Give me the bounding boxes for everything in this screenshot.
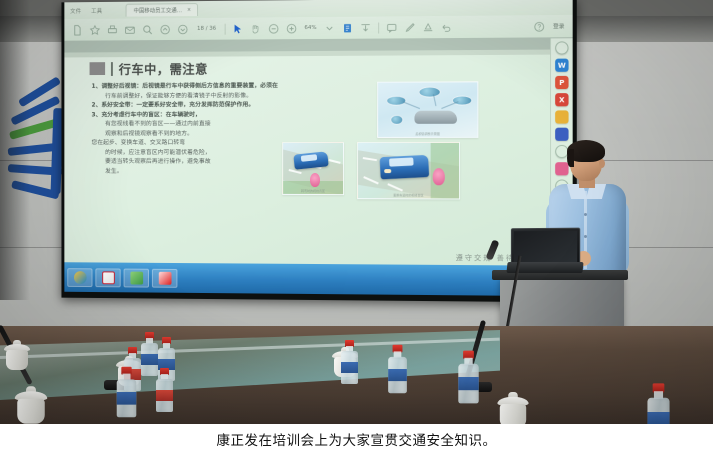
page-indicator[interactable]: 18 / 36 [197,26,216,32]
tea-cup [497,392,528,424]
comment-icon[interactable] [386,22,397,33]
blind-spot-right-illustration: 变换车道时的视线盲区 [357,142,460,200]
conference-room-photo: 文件 工具 中国移动员工交通… × [0,0,713,424]
projection-screen: 文件 工具 中国移动员工交通… × [61,0,576,302]
toolbar-divider [225,23,226,34]
stamp-icon[interactable] [555,162,568,175]
caption-text: 康正发在培训会上为大家宣贯交通安全知识。 [217,429,497,449]
tea-cup [15,386,48,424]
taskbar-app-mail[interactable] [95,268,120,287]
signature-icon[interactable] [422,22,433,33]
taskbar-app-wps[interactable] [124,268,149,287]
image-caption: 后视镜调整示意图 [378,132,477,136]
menu-item-tools[interactable]: 工具 [91,6,102,14]
fit-page-icon[interactable] [342,22,353,33]
laptop [511,228,580,267]
toolbar-divider [378,22,379,33]
water-bottle [388,345,407,393]
pdf-to-ppt-icon[interactable]: P [555,76,568,89]
next-page-icon[interactable] [177,24,188,35]
water-bottle [156,368,173,412]
pdf-to-image-icon[interactable] [555,110,568,123]
menu-item-file[interactable]: 文件 [70,7,81,15]
taskbar-app-pdf-reader[interactable] [152,268,177,287]
projected-desktop: 文件 工具 中国移动员工交通… × [64,0,572,296]
merge-pdf-icon[interactable] [555,128,568,141]
star-icon[interactable] [90,24,101,35]
title-square-decoration [90,62,106,75]
image-caption: 变换车道时的视线盲区 [358,193,459,197]
close-icon[interactable]: × [187,7,191,13]
presenter-hair-side [567,149,574,167]
login-button[interactable]: 登录 [553,22,564,30]
water-bottle [117,367,137,418]
document-tab[interactable]: 中国移动员工交通… × [126,3,198,17]
help-circle-icon[interactable] [534,21,545,32]
slide-text-line: 观察和后视镜观察看不到的地方。 [92,129,338,139]
new-document-icon[interactable] [72,24,83,35]
print-icon[interactable] [107,24,118,35]
zoom-level-label[interactable]: 64% [304,25,316,31]
pdf-to-excel-icon[interactable]: X [555,93,568,106]
title-rule-decoration [111,62,113,76]
tea-cup [4,340,30,370]
slide-title: 行车中，需注意 [119,59,208,78]
screenshot-root: 文件 工具 中国移动员工交通… × [0,0,713,453]
photo-caption: 康正发在培训会上为大家宣贯交通安全知识。 [0,424,713,453]
slide-text-line: 2、系好安全带：一定要系好安全带，充分发挥防范保护作用。 [92,101,338,111]
slide-title-row: 行车中，需注意 [90,59,208,78]
water-bottle [647,383,669,424]
water-bottle [341,340,358,384]
document-tab-title: 中国移动员工交通… [134,6,182,14]
presenter-ear [599,159,605,168]
zoom-out-icon[interactable] [269,23,280,34]
blind-spot-left-illustration: 转弯时的视线盲区 [282,142,344,195]
pdf-to-word-icon[interactable]: W [555,59,568,72]
fit-width-icon[interactable] [360,22,371,33]
hand-tool-icon[interactable] [251,23,262,34]
highlight-pen-icon[interactable] [404,22,415,33]
zoom-in-icon[interactable] [286,23,297,34]
chevron-down-icon[interactable] [324,22,335,33]
cursor-select-icon[interactable] [233,23,244,34]
search-icon[interactable] [555,41,568,54]
pdf-page-content[interactable]: 行车中，需注意 1、调整好后视镜：后视镜是行车中获得侧后方信息的重要装置，必须在… [64,54,572,265]
water-bottle [458,351,478,404]
undo-icon[interactable] [440,21,451,32]
search-icon[interactable] [142,24,153,35]
photo-left-shadow [0,0,30,300]
mail-icon[interactable] [125,24,136,35]
slide-text-line: 3、充分考虑行车中的盲区：在车辆驶时， [92,110,338,120]
slide-text-line: 有您视线看不到的盲区——通过内前直接 [92,120,338,130]
mirror-adjustment-diagram: 后视镜调整示意图 [377,81,478,138]
previous-page-icon[interactable] [160,24,171,35]
taskbar-app-browser[interactable] [67,268,92,287]
image-caption: 转弯时的视线盲区 [283,189,343,193]
laptop-screen [514,231,577,263]
